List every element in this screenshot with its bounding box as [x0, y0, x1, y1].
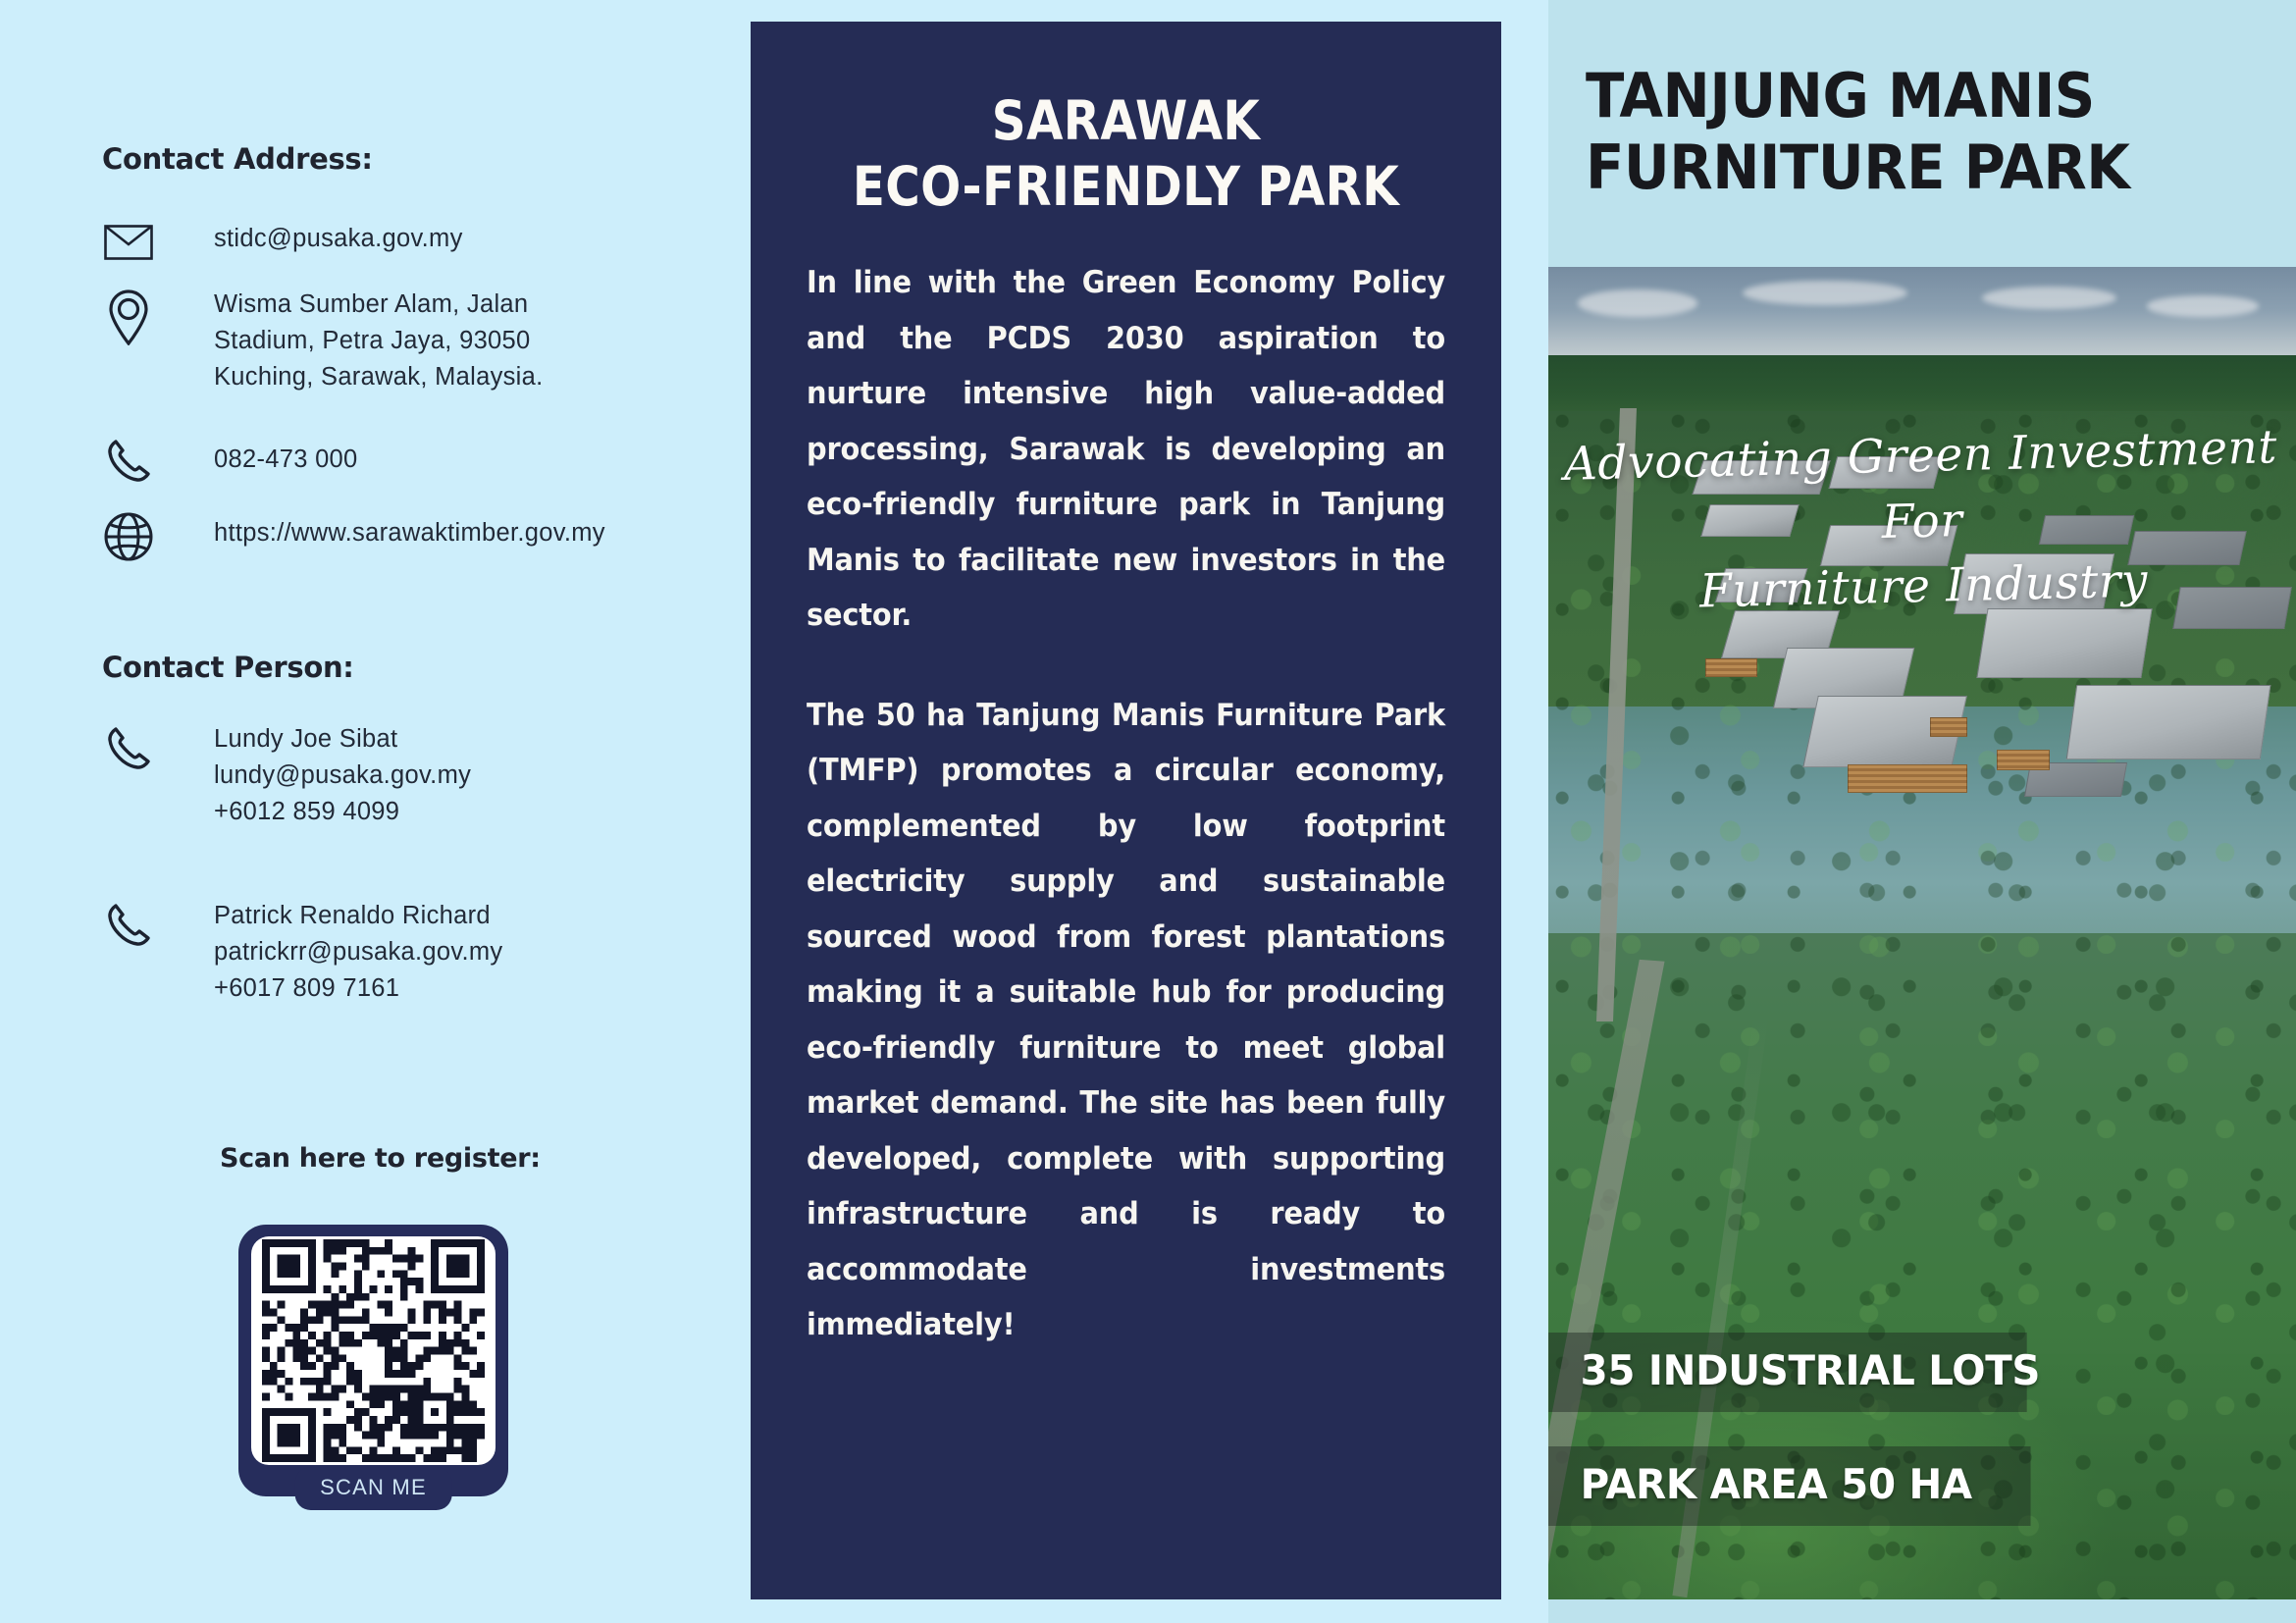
stat-industrial-lots: 35 INDUSTRIAL LOTS — [1548, 1333, 2027, 1412]
eco-park-title: SARAWAK ECO-FRIENDLY PARK — [845, 22, 1407, 220]
qr-code-frame — [251, 1236, 496, 1465]
title-line-2: ECO-FRIENDLY PARK — [845, 154, 1407, 220]
person-email[interactable]: lundy@pusaka.gov.my — [214, 758, 471, 794]
aerial-park-photo: Advocating Green Investment For Furnitur… — [1548, 267, 2296, 1599]
contact-person-row: Lundy Joe Sibat lundy@pusaka.gov.my +601… — [98, 721, 471, 830]
title-line-2: FURNITURE PARK — [1586, 132, 2216, 204]
contact-person-details: Lundy Joe Sibat lundy@pusaka.gov.my +601… — [159, 721, 471, 830]
contact-address-heading: Contact Address: — [102, 142, 373, 176]
address-line-2: Stadium, Petra Jaya, 93050 — [214, 323, 538, 359]
contact-person-row: Patrick Renaldo Richard patrickrr@pusaka… — [98, 898, 503, 1007]
tagline-line-1: Advocating Green Investment For — [1548, 415, 2296, 564]
qr-code-card[interactable]: SCAN ME — [238, 1225, 508, 1496]
phone-icon — [98, 438, 159, 485]
scan-me-badge: SCAN ME — [294, 1467, 452, 1510]
person-name: Patrick Renaldo Richard — [214, 898, 503, 934]
stat-park-area: PARK AREA 50 HA — [1548, 1446, 2031, 1526]
paragraph-tmfp: The 50 ha Tanjung Manis Furniture Park (… — [807, 688, 1445, 1353]
contact-phone-text[interactable]: 082-473 000 — [159, 442, 358, 478]
contact-website-text[interactable]: https://www.sarawaktimber.gov.my — [159, 515, 605, 551]
scan-here-heading: Scan here to register: — [220, 1143, 541, 1174]
address-line-3: Kuching, Sarawak, Malaysia. — [214, 359, 538, 395]
contact-address-text: Wisma Sumber Alam, Jalan Stadium, Petra … — [159, 287, 538, 395]
qr-code-image[interactable] — [262, 1239, 485, 1462]
paragraph-green-economy: In line with the Green Economy Policy an… — [807, 255, 1445, 644]
title-line-1: SARAWAK — [845, 88, 1407, 154]
contact-person-heading: Contact Person: — [102, 651, 354, 684]
contact-phone-row: 082-473 000 — [98, 442, 358, 485]
contact-email-row: stidc@pusaka.gov.my — [98, 221, 463, 260]
person-phone[interactable]: +6017 809 7161 — [214, 970, 503, 1007]
contact-email-text[interactable]: stidc@pusaka.gov.my — [159, 221, 463, 257]
brochure-page: Contact Address: stidc@pusaka.gov.my Wis… — [0, 0, 2296, 1623]
person-phone[interactable]: +6012 859 4099 — [214, 794, 471, 830]
tagline-script: Advocating Green Investment For Furnitur… — [1548, 415, 2296, 630]
tmfp-title: TANJUNG MANIS FURNITURE PARK — [1586, 61, 2216, 203]
person-name: Lundy Joe Sibat — [214, 721, 471, 758]
phone-icon — [98, 902, 159, 949]
contact-panel: Contact Address: stidc@pusaka.gov.my Wis… — [0, 0, 751, 1623]
map-pin-icon — [98, 288, 159, 345]
phone-icon — [98, 725, 159, 772]
contact-person-details: Patrick Renaldo Richard patrickrr@pusaka… — [159, 898, 503, 1007]
envelope-icon — [98, 225, 159, 260]
description-panel: SARAWAK ECO-FRIENDLY PARK In line with t… — [751, 22, 1501, 1599]
contact-website-row: https://www.sarawaktimber.gov.my — [98, 515, 605, 561]
hero-panel: TANJUNG MANIS FURNITURE PARK — [1548, 0, 2296, 1623]
person-email[interactable]: patrickrr@pusaka.gov.my — [214, 934, 503, 970]
description-body: In line with the Green Economy Policy an… — [807, 255, 1445, 1353]
contact-address-row: Wisma Sumber Alam, Jalan Stadium, Petra … — [98, 287, 538, 395]
address-line-1: Wisma Sumber Alam, Jalan — [214, 287, 538, 323]
title-line-1: TANJUNG MANIS — [1586, 61, 2216, 132]
globe-icon — [98, 512, 159, 561]
